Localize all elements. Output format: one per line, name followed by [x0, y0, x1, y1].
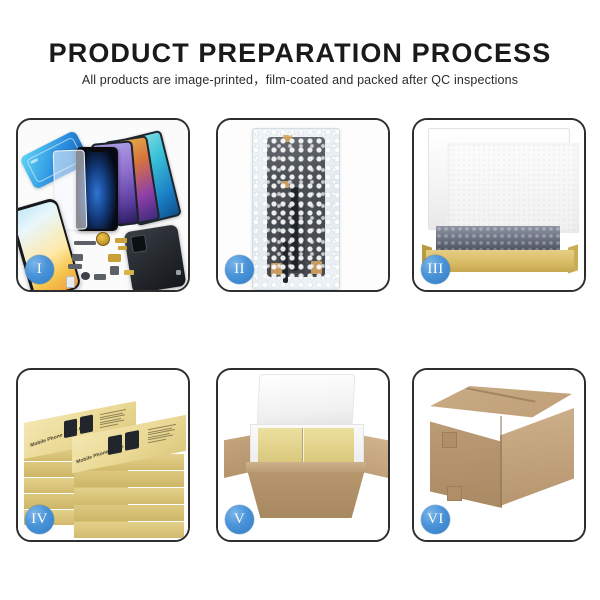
part-white-clip: [66, 276, 75, 288]
part-strip: [74, 241, 96, 245]
part-bracket-2: [68, 264, 82, 269]
step-badge-4: IV: [25, 505, 54, 534]
step-badge-5: V: [225, 505, 254, 534]
carton-corner-edge: [500, 416, 502, 506]
step-panel-1[interactable]: I: [16, 118, 190, 292]
foam-cooler-lid: [257, 374, 356, 426]
part-button: [81, 272, 90, 280]
stacked-box-r2: [74, 471, 184, 487]
bubble-wrap-bag: [252, 128, 340, 290]
step-panel-2[interactable]: II: [216, 118, 390, 292]
packed-items-row: [436, 226, 560, 252]
part-flex-gold: [115, 238, 127, 243]
foam-sheet: [447, 143, 579, 233]
part-camera: [110, 266, 119, 275]
part-screw: [176, 270, 181, 275]
product-preparation-infographic: PRODUCT PREPARATION PROCESS All products…: [0, 0, 600, 600]
step-panel-3[interactable]: III: [412, 118, 586, 292]
step-panel-4[interactable]: Mobile Phone Spare Parts Mobile Phone Sp…: [16, 368, 190, 542]
part-gold-bracket: [108, 254, 121, 262]
step-badge-1: I: [25, 255, 54, 284]
carton-body: [246, 466, 366, 518]
part-bracket-1: [72, 254, 83, 261]
step-badge-3: III: [421, 255, 450, 284]
part-clip: [94, 274, 106, 280]
step-panel-5[interactable]: V: [216, 368, 390, 542]
process-steps-grid: I II: [0, 0, 600, 600]
step-badge-2: II: [225, 255, 254, 284]
step-badge-6: VI: [421, 505, 450, 534]
carton-inner-rim: [246, 462, 366, 472]
part-speaker-coil: [96, 232, 110, 246]
carton-tape-upper: [442, 432, 457, 448]
stacked-box-r4: [74, 505, 184, 521]
stacked-box-r3: [74, 488, 184, 504]
yellow-boxes-inside: [258, 428, 354, 462]
part-flex-2: [124, 270, 134, 275]
carton-tape-lower: [447, 486, 462, 501]
step-panel-6[interactable]: VI: [412, 368, 586, 542]
stacked-box-r5: [74, 522, 184, 538]
part-connector: [118, 246, 127, 250]
inner-box-lid: [428, 128, 570, 230]
phone-back-cover: [123, 224, 186, 290]
